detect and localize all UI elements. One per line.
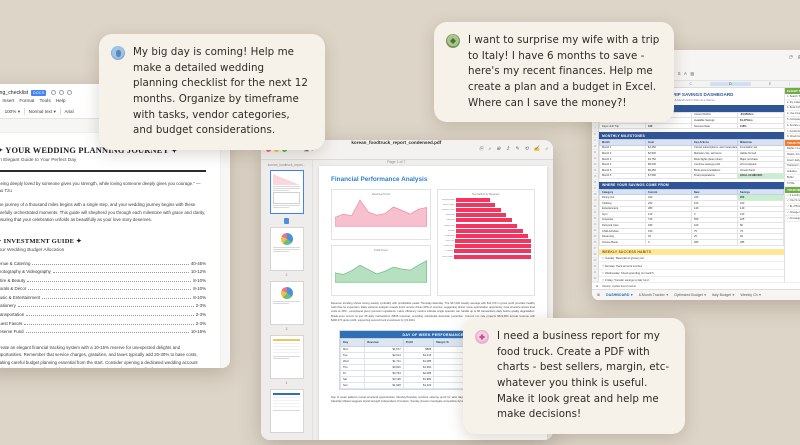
cell[interactable]: Days Until Trip <box>600 123 646 129</box>
budget-row: Reserve Fund10-15% <box>0 328 206 337</box>
table-col-header: Day <box>341 339 365 346</box>
menu-help[interactable]: Help <box>56 99 66 104</box>
pdf-toolbar[interactable]: ⎘ ⌕ ⊕ ↥ ✎ ⟲ ✍ ⌕ <box>479 146 548 153</box>
cell[interactable]: Month 6 <box>600 173 646 179</box>
document-page: ✦ YOUR WEDDING PLANNING JOURNEY ✦ An Ele… <box>0 133 220 368</box>
budget-leader <box>53 272 189 273</box>
horizontal-bars: Bulgogi BowlKimchi FriesKorean TacosBibi… <box>441 197 531 259</box>
habit-item[interactable]: Sunday: Meal plan & grocery list <box>599 255 784 262</box>
bar <box>455 239 531 243</box>
doc-intro-paragraph: The journey of a thousand miles begins w… <box>0 201 206 223</box>
doc-subheading: An Elegant Guide to Your Perfect Day <box>0 158 206 163</box>
doc-divider <box>0 170 206 172</box>
bar-label: Mandu <box>441 230 455 232</box>
right-reference-panes[interactable]: FLIGHT TIPS1. Search Tuesday 3pm2. Fly m… <box>784 88 800 300</box>
move-icon[interactable] <box>59 90 64 95</box>
budget-row: Venue & Catering40-45% <box>0 260 206 269</box>
bar-row: Kimbap <box>441 249 531 254</box>
sign-icon[interactable]: ✍ <box>534 146 540 153</box>
cell[interactable]: GOAL ACHIEVED! <box>738 173 784 179</box>
toolbar-divider <box>24 108 25 115</box>
zoom-icon[interactable]: ⊕ <box>496 146 500 153</box>
bar <box>456 218 512 222</box>
charts-row: Revenue Trend Profit Trend <box>331 189 535 296</box>
habit-item[interactable]: Wednesday: Check spending (on track?) <box>599 270 784 277</box>
thumbnail-page-5[interactable] <box>270 389 304 433</box>
col-E[interactable]: E <box>751 82 791 86</box>
doc-investment-heading: ✦ INVESTMENT GUIDE ✦ <box>0 237 206 245</box>
right-pane-item[interactable]: ✓ All categories live <box>785 216 800 222</box>
doc-closing-paragraph: Create an elegant financial tracking sys… <box>0 344 206 368</box>
thumbnail-page-2[interactable] <box>270 227 304 271</box>
budget-value: 2-3% <box>196 320 206 329</box>
budget-value: 40-45% <box>191 260 206 269</box>
thumbnail-doc-label: korean_foodtruck_report... <box>261 163 312 167</box>
budget-row: Guest Favors2-3% <box>0 320 206 329</box>
revenue-trend-chart: Revenue Trend <box>331 189 431 240</box>
cell[interactable]: 0 <box>646 240 692 246</box>
table-row[interactable]: Days Until Trip180Success Rate118% <box>600 123 784 129</box>
thumb-table-2 <box>273 339 300 355</box>
cell[interactable]: Final preparations <box>692 173 738 179</box>
budget-label: Stationery <box>0 302 16 311</box>
budget-leader <box>28 289 191 290</box>
table-col-header: Revenue <box>365 339 404 346</box>
cell[interactable]: 118% <box>738 123 784 129</box>
bar <box>455 244 531 248</box>
budget-value: 10-15% <box>191 328 206 337</box>
sellers-chart-title: Top Sellers by Revenue <box>441 193 531 196</box>
annotate-icon[interactable]: ⎘ <box>479 146 483 153</box>
thumb-table <box>273 192 300 204</box>
budget-value: 10-12% <box>191 268 206 277</box>
prompt-bubble-wedding: My big day is coming! Help me make a det… <box>99 34 325 150</box>
profit-chart-title: Profit Trend <box>335 249 427 252</box>
budget-value: 8-10% <box>193 285 206 294</box>
thumb-pie-chart <box>281 233 293 245</box>
col-C[interactable]: C <box>671 82 711 86</box>
sheet-tab-label: Weekly Ch <box>740 293 757 297</box>
budget-label: Transportation <box>0 311 24 320</box>
col-D[interactable]: D <box>711 82 751 86</box>
thumb-pie-chart-2 <box>281 287 293 299</box>
bar <box>454 249 531 253</box>
budget-label: Reserve Fund <box>0 328 24 337</box>
savings-body[interactable]: Dining Out420220200Clothing250100150Ente… <box>600 195 784 245</box>
markup-icon[interactable]: ✎ <box>515 146 519 153</box>
habit-item[interactable]: Monday: Pack all work lunches <box>599 262 784 269</box>
bar <box>456 198 490 202</box>
thumb-number-4: 4 <box>261 381 312 385</box>
bar-label: Kimchi Fries <box>441 204 455 206</box>
menu-format[interactable]: Format <box>19 99 34 104</box>
budget-row: Photography & Videography10-12% <box>0 268 206 277</box>
milestones-table[interactable]: MonthGoalKey ActionsMilestone Month 1$1,… <box>599 139 784 179</box>
chevron-down-icon[interactable]: ▾ <box>666 293 668 297</box>
cell[interactable]: Income Boost <box>600 240 646 246</box>
thumb-table-3 <box>273 393 300 409</box>
bar <box>456 203 496 207</box>
strikethrough-button[interactable]: S <box>678 71 681 76</box>
budget-row: Attire & Beauty8-10% <box>0 277 206 286</box>
docs-badge: DOCS <box>31 90 46 96</box>
doc-quote: "Being deeply loved by someone gives you… <box>0 180 206 195</box>
savings-header: WHERE YOUR SAVINGS COME FROM <box>599 182 784 189</box>
profit-trend-chart: Profit Trend <box>331 245 431 296</box>
budget-label: Music & Entertainment <box>0 294 40 303</box>
bar-label: Korean Tacos <box>441 209 455 211</box>
budget-leader <box>26 332 189 333</box>
chevron-down-icon[interactable]: ▾ <box>733 293 735 297</box>
budget-label: Florals & Décor <box>0 285 26 294</box>
bar <box>456 208 501 212</box>
pdf-filename: korean_foodtruck_report_condensed.pdf <box>351 140 441 145</box>
area-charts-column: Revenue Trend Profit Trend <box>331 189 431 296</box>
bar-row: Soft Drinks <box>441 254 531 259</box>
docs-title-icons <box>51 90 72 95</box>
budget-leader <box>26 315 194 316</box>
budget-row: Transportation2-3% <box>0 311 206 320</box>
chevron-down-icon[interactable]: ▾ <box>704 293 706 297</box>
cell[interactable]: 285 <box>738 240 784 246</box>
sheet-tab[interactable]: Italy Budget▾ <box>712 293 734 297</box>
budget-row: Stationery2-3% <box>0 302 206 311</box>
savings-table[interactable]: CategoryCurrentNewSavings Dining Out4202… <box>599 189 784 246</box>
text-color-button[interactable]: A <box>684 71 687 76</box>
page-indicator-badge <box>284 218 289 224</box>
zoom-selector[interactable]: 100% ▾ <box>5 109 21 115</box>
thumbnail-page-1[interactable] <box>270 170 304 214</box>
formula-value[interactable]: Weekly: Update Excel tracker <box>602 285 636 288</box>
bubble-foodtruck-text: I need a business report for my food tru… <box>497 329 671 423</box>
habits-header: WEEKLY SUCCESS HABITS <box>599 249 784 256</box>
budget-allocation-list: Venue & Catering40-45%Photography & Vide… <box>0 260 206 337</box>
sheet-tab[interactable]: 6-Month Tracker▾ <box>639 293 668 297</box>
table-cell: $1,948 <box>365 382 404 388</box>
bar <box>456 229 523 233</box>
budget-label: Venue & Catering <box>0 260 30 269</box>
cell[interactable]: $7,500 <box>646 173 692 179</box>
cloud-icon[interactable] <box>67 90 72 95</box>
budget-leader <box>32 264 188 265</box>
fill-color-button[interactable]: ▨ <box>690 71 694 76</box>
cell[interactable]: Success Rate <box>692 123 738 129</box>
sheet-tab-label: Italy Budget <box>712 293 731 297</box>
thumb-number-3: 3 <box>261 327 312 331</box>
sheet-tab-label: 6-Month Tracker <box>639 293 665 297</box>
pdf-thumbnail-sidebar[interactable]: korean_foodtruck_report... 2 3 <box>261 160 313 440</box>
bar-label: Soft Drinks <box>441 256 453 258</box>
bar <box>456 234 528 238</box>
bar-label: Tteokbokki <box>441 235 455 237</box>
bubble-italy-text: I want to surprise my wife with a trip t… <box>468 33 660 111</box>
table-row[interactable]: Income Boost0280285 <box>600 240 784 246</box>
bar <box>456 213 507 217</box>
chevron-down-icon[interactable]: ▾ <box>759 293 761 297</box>
bar-label: Bulgogi Bowl <box>441 199 455 201</box>
table-cell: $1,223 <box>403 382 434 388</box>
budget-label: Guest Favors <box>0 320 22 329</box>
formula-bar[interactable]: ⊞ Weekly: Update Excel tracker <box>592 282 800 289</box>
menu-insert[interactable]: Insert <box>2 99 14 104</box>
name-box[interactable]: ⊞ <box>596 285 598 288</box>
budget-value: 2-3% <box>196 311 206 320</box>
table-col-header: Profit <box>403 339 434 346</box>
bar <box>454 255 531 259</box>
history-icon[interactable]: ◷ <box>788 54 792 60</box>
cell[interactable]: 280 <box>692 240 738 246</box>
budget-leader <box>27 281 191 282</box>
sheet-tab[interactable]: Weekly Ch▾ <box>740 293 761 297</box>
bar-label: Kimbap <box>441 250 453 252</box>
thumb-number-2: 2 <box>261 273 312 277</box>
cell[interactable]: 180 <box>646 123 692 129</box>
docs-scroll-area[interactable]: ✦ YOUR WEDDING PLANNING JOURNEY ✦ An Ele… <box>0 119 230 368</box>
bar-label: Fried Rice <box>441 245 454 247</box>
budget-leader <box>18 306 194 307</box>
milestones-header: MONTHLY MILESTONES <box>599 132 784 139</box>
budget-value: 8-10% <box>193 277 206 286</box>
budget-row: Florals & Décor8-10% <box>0 285 206 294</box>
sheet-tab-bar[interactable]: ⊞DASHBOARD▾6-Month Tracker▾Optimized Bud… <box>592 289 800 300</box>
table-row[interactable]: Month 6$7,500Final preparationsGOAL ACHI… <box>600 173 784 179</box>
revenue-chart-title: Revenue Trend <box>335 193 427 196</box>
revenue-area-svg <box>335 197 427 231</box>
thumbnail-page-4[interactable] <box>270 335 304 379</box>
thumb-chart <box>273 174 300 185</box>
col-F[interactable]: F <box>790 82 800 86</box>
sheet-tab-label: Optimized Budget <box>674 293 703 297</box>
budget-row: Music & Entertainment8-10% <box>0 294 206 303</box>
pdf-report-title: Financial Performance Analysis <box>331 176 535 183</box>
star-icon[interactable] <box>51 90 56 95</box>
chevron-down-icon[interactable]: ▾ <box>631 293 633 297</box>
thumbnail-page-3[interactable] <box>270 281 304 325</box>
budget-value: 8-10% <box>193 294 206 303</box>
bar-row: Fried Rice <box>441 244 531 249</box>
menu-tools[interactable]: Tools <box>40 99 51 104</box>
sheet-tab[interactable]: Optimized Budget▾ <box>674 293 706 297</box>
top-sellers-chart: Top Sellers by Revenue Bulgogi BowlKimch… <box>437 189 535 296</box>
doc-investment-subheading: Your Wedding Budget Allocation <box>0 248 206 253</box>
table-cell: Sun <box>341 382 365 388</box>
paint-format-icon[interactable]: ⊤ <box>0 109 1 115</box>
excel-right-icons[interactable]: ◷ ▤ ⊙▾ <box>788 53 800 61</box>
compass-green-icon <box>446 34 460 48</box>
prompt-bubble-foodtruck: I need a business report for my food tru… <box>463 318 685 434</box>
sheet-tab-label: DASHBOARD <box>606 293 629 297</box>
milestones-body[interactable]: Month 1$1,250Cancel subscriptions, start… <box>600 145 784 179</box>
bar-label: Japchae <box>441 219 455 221</box>
sparkle-pink-icon <box>475 330 489 344</box>
bubble-wedding-text: My big day is coming! Help me make a det… <box>133 45 311 139</box>
docs-filename[interactable]: wedding_checklist <box>0 90 28 96</box>
search-icon[interactable]: ⌕ <box>488 146 491 153</box>
paragraph-style-selector[interactable]: Normal text ▾ <box>29 109 56 115</box>
bar-label: Bibimbap <box>441 214 455 216</box>
bar <box>456 224 517 228</box>
budget-leader <box>24 324 193 325</box>
search2-icon[interactable]: ⌕ <box>545 146 548 153</box>
prompt-bubble-italy: I want to surprise my wife with a trip t… <box>434 22 674 122</box>
person-blue-icon <box>111 46 125 60</box>
add-sheet-button[interactable]: ⊞ <box>597 293 600 297</box>
sheet-tab[interactable]: DASHBOARD▾ <box>606 293 633 297</box>
font-selector[interactable]: Arial <box>64 109 73 114</box>
budget-label: Photography & Videography <box>0 268 51 277</box>
budget-label: Attire & Beauty <box>0 277 25 286</box>
profit-area-svg <box>335 253 427 287</box>
rotate-icon[interactable]: ⟲ <box>524 146 528 153</box>
budget-value: 2-3% <box>196 302 206 311</box>
share-icon[interactable]: ↥ <box>506 146 510 153</box>
toolbar-divider-2 <box>60 108 61 115</box>
bar-label: Corn Dog <box>441 240 455 242</box>
budget-leader <box>42 298 191 299</box>
bar-label: Spicy Pork <box>441 225 455 227</box>
